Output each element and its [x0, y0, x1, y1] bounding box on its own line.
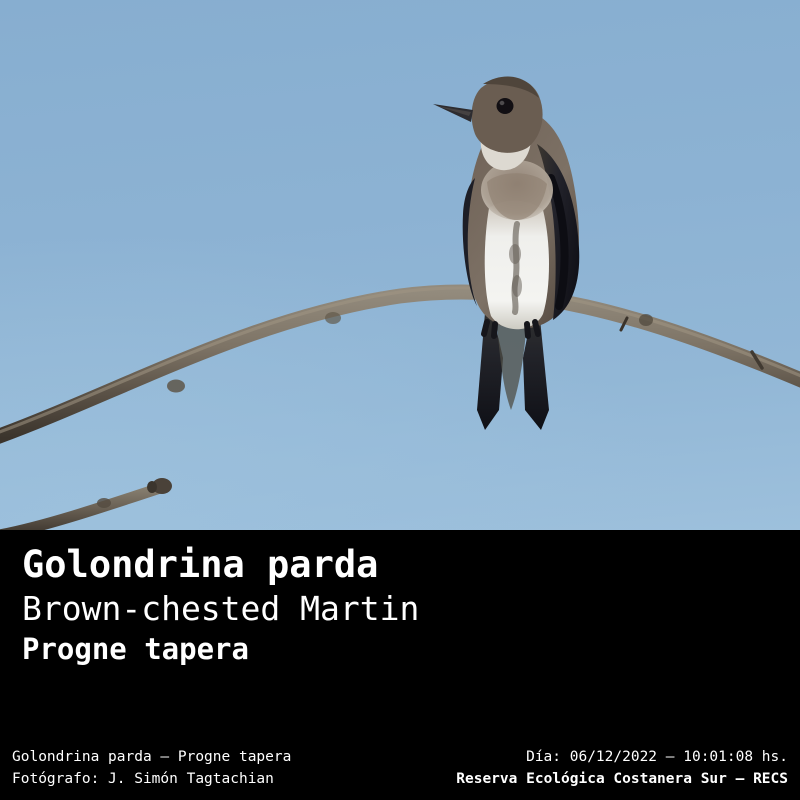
footer-left-line-1: Golondrina parda — Progne tapera: [12, 746, 291, 768]
branch-group: [0, 0, 800, 530]
footer-right-line-2: Reserva Ecológica Costanera Sur — RECS: [456, 768, 788, 790]
breast-spot: [512, 275, 522, 297]
footer-right-line-1: Día: 06/12/2022 — 10:01:08 hs.: [456, 746, 788, 768]
caption-band: Golondrina parda Brown-chested Martin Pr…: [0, 530, 800, 800]
footer-left-line-2: Fotógrafo: J. Simón Tagtachian: [12, 768, 291, 790]
english-name: Brown-chested Martin: [22, 592, 782, 625]
branch-knot: [167, 380, 185, 393]
bird: [425, 58, 615, 433]
bird-illustration: [425, 58, 615, 433]
branch-knot: [639, 314, 653, 326]
main-branch-highlight: [0, 288, 800, 434]
common-name: Golondrina parda: [22, 546, 782, 583]
scientific-name: Progne tapera: [22, 635, 782, 664]
breast-spot: [509, 244, 521, 264]
secondary-twig: [0, 486, 166, 530]
main-branch: [0, 292, 800, 438]
bird-photo-card: Golondrina parda Brown-chested Martin Pr…: [0, 0, 800, 800]
branch-knot: [325, 312, 341, 324]
breast-streak: [514, 224, 517, 312]
photograph: [0, 0, 800, 530]
twig-knot: [97, 498, 111, 508]
eye-highlight: [500, 101, 505, 105]
footer-left: Golondrina parda — Progne tapera Fotógra…: [12, 746, 291, 790]
twig-bud-shadow: [147, 481, 157, 493]
title-block: Golondrina parda Brown-chested Martin Pr…: [22, 546, 782, 664]
eye: [497, 98, 514, 114]
footer-right: Día: 06/12/2022 — 10:01:08 hs. Reserva E…: [456, 746, 788, 790]
